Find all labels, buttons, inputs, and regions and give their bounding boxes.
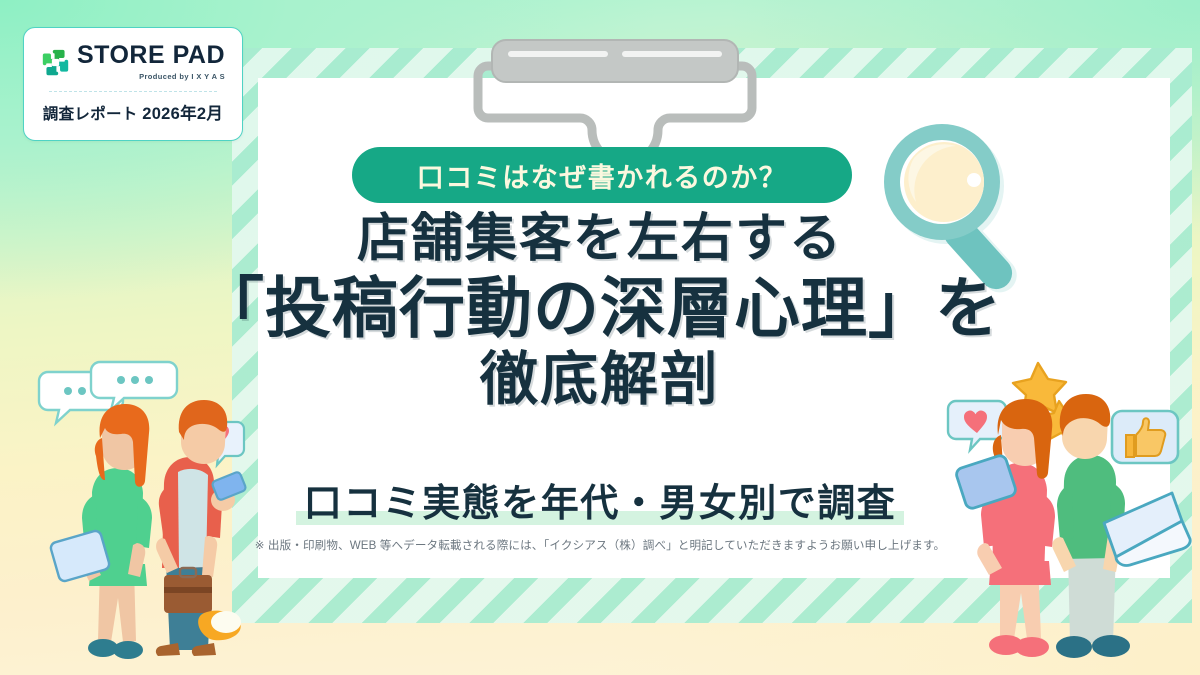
- storepad-pinwheel-icon: [41, 48, 70, 77]
- question-badge-label: 口コミはなぜ書かれるのか？: [417, 156, 788, 195]
- poster-canvas: STORE PAD Produced by I X Y A S 調査レポート 2…: [0, 0, 1200, 675]
- subtitle: 口コミ実態を年代・男女別で調査: [296, 472, 905, 527]
- brand-tagline: Produced by I X Y A S: [139, 72, 225, 81]
- person-illustration: [49, 404, 152, 659]
- title-line-1: 店舗集客を左右する: [0, 210, 1200, 268]
- two-people-with-devices-illustration: [944, 355, 1194, 660]
- report-label: 調査レポート: [43, 106, 138, 123]
- thumbs-up-icon: [1112, 411, 1178, 463]
- title-line-2: 「投稿行動の深層心理」を: [0, 270, 1200, 347]
- two-people-with-devices-illustration: [18, 360, 258, 660]
- subtitle-text: 口コミ実態を年代・男女別で調査: [304, 483, 897, 525]
- brand-name: STORE PAD: [77, 43, 225, 68]
- logo-row: STORE PAD Produced by I X Y A S: [41, 43, 225, 81]
- report-label-row: 調査レポート 2026年2月: [43, 100, 223, 124]
- eyeglasses-icon: [470, 36, 760, 156]
- badge-divider: [49, 91, 217, 92]
- logo-wordmark: STORE PAD Produced by I X Y A S: [77, 43, 225, 81]
- question-badge: 口コミはなぜ書かれるのか？: [352, 147, 852, 203]
- report-date: 2026年2月: [142, 105, 223, 123]
- brand-logo-badge: STORE PAD Produced by I X Y A S 調査レポート 2…: [23, 27, 243, 141]
